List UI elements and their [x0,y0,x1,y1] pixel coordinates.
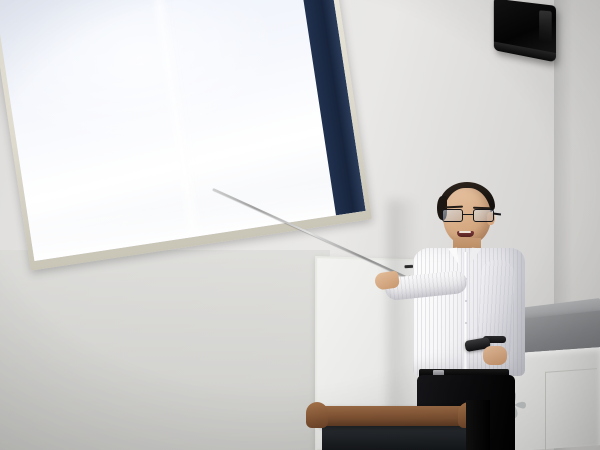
row-label-allele: Targeting allele [213,58,240,67]
primer-label-p2: P2 [89,36,93,41]
blot-label-gat2: GAT-2 [275,95,288,102]
collar-left [448,248,459,266]
exon-box-g1: 1 [52,30,59,36]
shirt-button-2 [465,300,467,302]
teeth [459,231,471,233]
gel-band-ko-lane2 [69,118,93,124]
speaker-face [539,10,552,42]
panel-a-letter: A [5,14,12,24]
loxp-site-v-right [123,46,128,54]
gel-band-ko-lane3 [98,114,122,120]
blot-band-gat2-wt [231,104,251,109]
loxp-site-a-left [86,79,91,87]
exon-box-v1: 1 [52,56,59,62]
primer-label-p1: P1 [73,36,77,41]
primer-label-p3: P3 [93,88,97,93]
wooden-chair[interactable] [300,400,490,450]
shirt-placket [463,252,468,376]
chair-backrest [318,406,470,426]
row-label-vector: Targeting vector [208,28,236,37]
glasses-bridge [463,214,473,216]
exon-box-g15: 15 [211,13,220,20]
gel-lane-label-wt: +/+ [35,106,42,112]
red-arrow-vector [74,54,79,61]
gel-lane-label-ko: -/- [68,106,73,112]
gel-band-wt-lane3 [99,123,123,129]
primer-label-p4: P4 [113,87,117,92]
lecture-room-scene: -2 gene targeting A 3.6 kb 5.2 kb 1 2 3 [0,0,600,450]
chair-arm-left [306,402,328,428]
panel-c-letter: C [207,88,214,98]
loxp-site-a-right [128,73,133,81]
pgk-neo-cassette-vector: PGK-neo [88,47,123,58]
pgk-neo-cassette-allele: PGK-neo [92,74,127,85]
mouth [457,231,474,237]
hand-left [483,346,507,365]
connector-tick-3 [63,62,68,88]
loxp-site-v-left [82,51,87,59]
blot-band-actin-wt [232,116,249,120]
red-arrow-allele [78,82,83,89]
blot-lane-label-wt: +/+ [228,95,234,101]
lens-right [473,209,494,222]
panel-b-letter: B [18,111,25,121]
break-slash-allele: / [200,70,202,76]
dimension-52kb-label: 5.2 kb [141,4,151,9]
connector-tick-5 [191,51,195,75]
eyeglasses [442,209,494,222]
gel-image-panel-b [31,104,132,148]
connector-tick-1 [20,32,25,60]
exon-box-g3: 3 [182,15,189,21]
gel-band-wt-lane1 [40,130,64,136]
dimension-36kb-label: 3.6 kb [63,16,73,21]
screen-surface: -2 gene targeting A 3.6 kb 5.2 kb 1 2 3 [0,0,366,261]
lens-left [442,209,463,222]
exon-box-g2: 2 [92,25,99,31]
exon-box-a1: 1 [56,84,63,90]
break-slash-genomic: // [195,10,199,16]
chair-seat [322,425,468,450]
shirt-button-3 [465,322,467,324]
blot-label-actin: Actin [276,107,288,114]
blot-row-actin [227,109,276,124]
dta-cassette [190,41,219,52]
chair-shadow-right [466,400,490,450]
blot-band-actin-ko [254,113,271,117]
exon-box-a15: 15 [214,71,223,78]
wall-shadow-left [0,250,330,450]
collar-right [470,248,481,266]
